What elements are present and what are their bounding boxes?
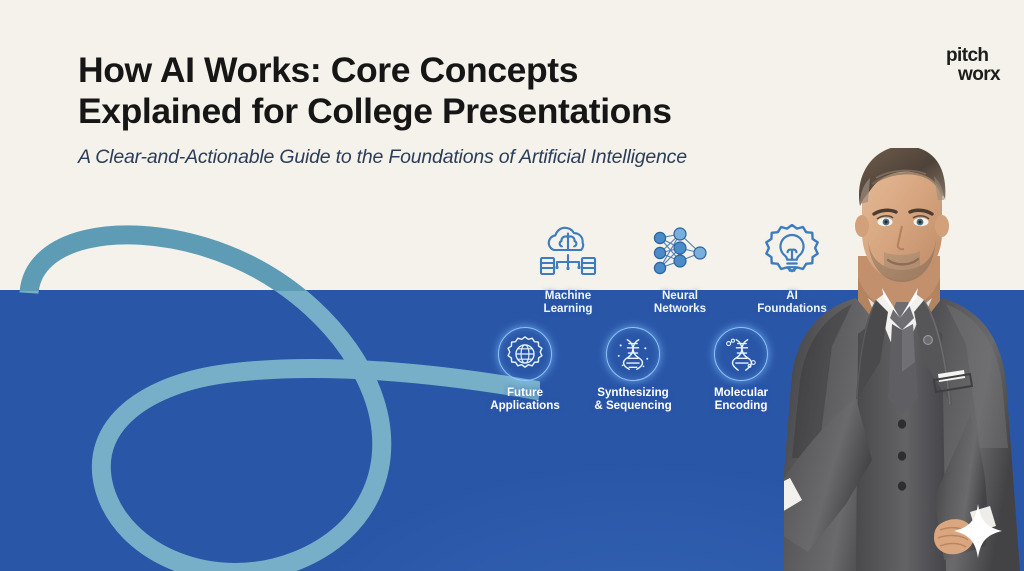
slide-subtitle: A Clear-and-Actionable Guide to the Foun… [78,146,687,169]
pitchworx-logo[interactable]: pitch worx [946,46,1000,85]
cloud-brain-icon [537,222,599,284]
concept-future-applications[interactable]: Future Applications [482,327,568,412]
concept-molecular-encoding[interactable]: Molecular Encoding [698,327,784,412]
ribbon-decoration-lower [0,291,540,571]
icon-label: Neural Networks [654,289,706,315]
ribbon-decoration-upper [0,215,540,291]
neural-network-icon [649,222,711,284]
concept-synthesizing-sequencing[interactable]: Synthesizing & Sequencing [590,327,676,412]
icon-row-bottom: Future Applications [482,327,784,412]
icon-label: Synthesizing & Sequencing [594,386,671,412]
concept-icon-cluster: Machine Learning [470,222,800,422]
title-line-1: How AI Works: Core Concepts [78,50,838,91]
logo-line-1: pitch [946,45,988,66]
logo-line-2: worx [946,65,1000,84]
concept-neural-networks[interactable]: Neural Networks [637,222,723,315]
presentation-slide: How AI Works: Core Concepts Explained fo… [0,0,1024,571]
dna-helix-icon [606,327,660,381]
dna-molecule-icon [714,327,768,381]
four-point-sparkle-icon [952,502,1004,560]
icon-label: Molecular Encoding [714,386,768,412]
icon-label: Future Applications [490,386,560,412]
title-line-2: Explained for College Presentations [78,91,838,132]
slide-title: How AI Works: Core Concepts Explained fo… [78,50,838,132]
icon-label: Machine Learning [544,289,593,315]
globe-gear-icon [498,327,552,381]
concept-machine-learning[interactable]: Machine Learning [525,222,611,315]
